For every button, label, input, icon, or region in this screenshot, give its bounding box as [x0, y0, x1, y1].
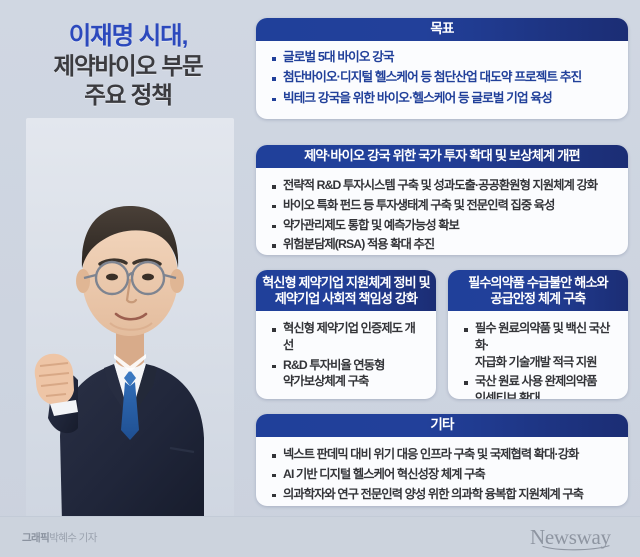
panel-goal: 목표 글로벌 5대 바이오 강국 첨단바이오·디지털 헬스케어 등 첨단산업 대… — [256, 18, 628, 119]
panel-other: 기타 넥스트 판데믹 대비 위기 대응 인프라 구축 및 국제협력 확대·강화 … — [256, 414, 628, 506]
list-item: 의과학자와 연구 전문인력 양성 위한 의과학 융복합 지원체계 구축 — [272, 486, 614, 503]
list-item: 위험분담제(RSA) 적용 확대 추진 — [272, 236, 614, 253]
page-title: 이재명 시대, 제약바이오 부문 주요 정책 — [14, 22, 242, 109]
panel-investment-list: 전략적 R&D 투자시스템 구축 및 성과도출·공공환원형 지원체계 강화 바이… — [272, 177, 614, 253]
list-item: R&D 투자비율 연동형 약가보상체계 구축 — [272, 357, 422, 391]
panel-goal-list: 글로벌 5대 바이오 강국 첨단바이오·디지털 헬스케어 등 첨단산업 대도약 … — [272, 49, 614, 107]
list-item: 필수 원료의약품 및 백신 국산화· 자급화 기술개발 적극 지원 — [464, 320, 614, 370]
newsway-logo-text: Newsway — [530, 525, 611, 549]
panel-essential-medicine-supply-list: 필수 원료의약품 및 백신 국산화· 자급화 기술개발 적극 지원 국산 원료 … — [464, 320, 614, 399]
footer-bar: 그래픽박혜수 기자 Newsway — [0, 516, 640, 557]
graphic-credit: 그래픽박혜수 기자 — [22, 530, 97, 545]
list-item: 첨단바이오·디지털 헬스케어 등 첨단산업 대도약 프로젝트 추진 — [272, 69, 614, 86]
list-item: 넥스트 판데믹 대비 위기 대응 인프라 구축 및 국제협력 확대·강화 — [272, 446, 614, 463]
page-title-line-3: 주요 정책 — [14, 81, 242, 110]
panel-essential-medicine-supply-header: 필수의약품 수급불안 해소와 공급안정 체계 구축 — [448, 270, 628, 311]
page-title-line-1: 이재명 시대, — [14, 22, 242, 52]
newsway-logo: Newsway — [530, 525, 622, 551]
list-item: AI 기반 디지털 헬스케어 혁신성장 체계 구축 — [272, 466, 614, 483]
portrait-photo — [26, 118, 234, 522]
panel-other-list: 넥스트 판데믹 대비 위기 대응 인프라 구축 및 국제협력 확대·강화 AI … — [272, 446, 614, 502]
panel-investment-header: 제약·바이오 강국 위한 국가 투자 확대 및 보상체계 개편 — [256, 145, 628, 168]
page-title-line-2: 제약바이오 부문 — [14, 52, 242, 81]
panel-goal-body: 글로벌 5대 바이오 강국 첨단바이오·디지털 헬스케어 등 첨단산업 대도약 … — [256, 41, 628, 116]
panel-other-body: 넥스트 판데믹 대비 위기 대응 인프라 구축 및 국제협력 확대·강화 AI … — [256, 437, 628, 506]
panel-investment: 제약·바이오 강국 위한 국가 투자 확대 및 보상체계 개편 전략적 R&D … — [256, 145, 628, 255]
list-item: 전략적 R&D 투자시스템 구축 및 성과도출·공공환원형 지원체계 강화 — [272, 177, 614, 194]
list-item: 약가관리제도 통합 및 예측가능성 확보 — [272, 217, 614, 234]
panel-innovative-pharma-list: 혁신형 제약기업 인증제도 개선 R&D 투자비율 연동형 약가보상체계 구축 — [272, 320, 422, 390]
portrait-illustration — [26, 118, 234, 522]
panel-essential-medicine-supply-body: 필수 원료의약품 및 백신 국산화· 자급화 기술개발 적극 지원 국산 원료 … — [448, 311, 628, 399]
list-item: 글로벌 5대 바이오 강국 — [272, 49, 614, 66]
panel-innovative-pharma-body: 혁신형 제약기업 인증제도 개선 R&D 투자비율 연동형 약가보상체계 구축 — [256, 311, 436, 399]
graphic-credit-name: 박혜수 기자 — [49, 532, 97, 544]
panel-innovative-pharma: 혁신형 제약기업 지원체계 정비 및 제약기업 사회적 책임성 강화 혁신형 제… — [256, 270, 436, 399]
list-item: 혁신형 제약기업 인증제도 개선 — [272, 320, 422, 354]
list-item: 국산 원료 사용 완제의약품 인센티브 확대 — [464, 373, 614, 399]
list-item: 바이오 특화 펀드 등 투자생태계 구축 및 전문인력 집중 육성 — [272, 197, 614, 214]
infographic-root: 이재명 시대, 제약바이오 부문 주요 정책 — [0, 0, 640, 557]
panel-other-header: 기타 — [256, 414, 628, 437]
panel-investment-body: 전략적 R&D 투자시스템 구축 및 성과도출·공공환원형 지원체계 강화 바이… — [256, 168, 628, 255]
list-item: 빅테크 강국을 위한 바이오·헬스케어 등 글로벌 기업 육성 — [272, 90, 614, 107]
panel-goal-header: 목표 — [256, 18, 628, 41]
panel-essential-medicine-supply: 필수의약품 수급불안 해소와 공급안정 체계 구축 필수 원료의약품 및 백신 … — [448, 270, 628, 399]
panel-innovative-pharma-header: 혁신형 제약기업 지원체계 정비 및 제약기업 사회적 책임성 강화 — [256, 270, 436, 311]
graphic-credit-label: 그래픽 — [22, 532, 49, 544]
